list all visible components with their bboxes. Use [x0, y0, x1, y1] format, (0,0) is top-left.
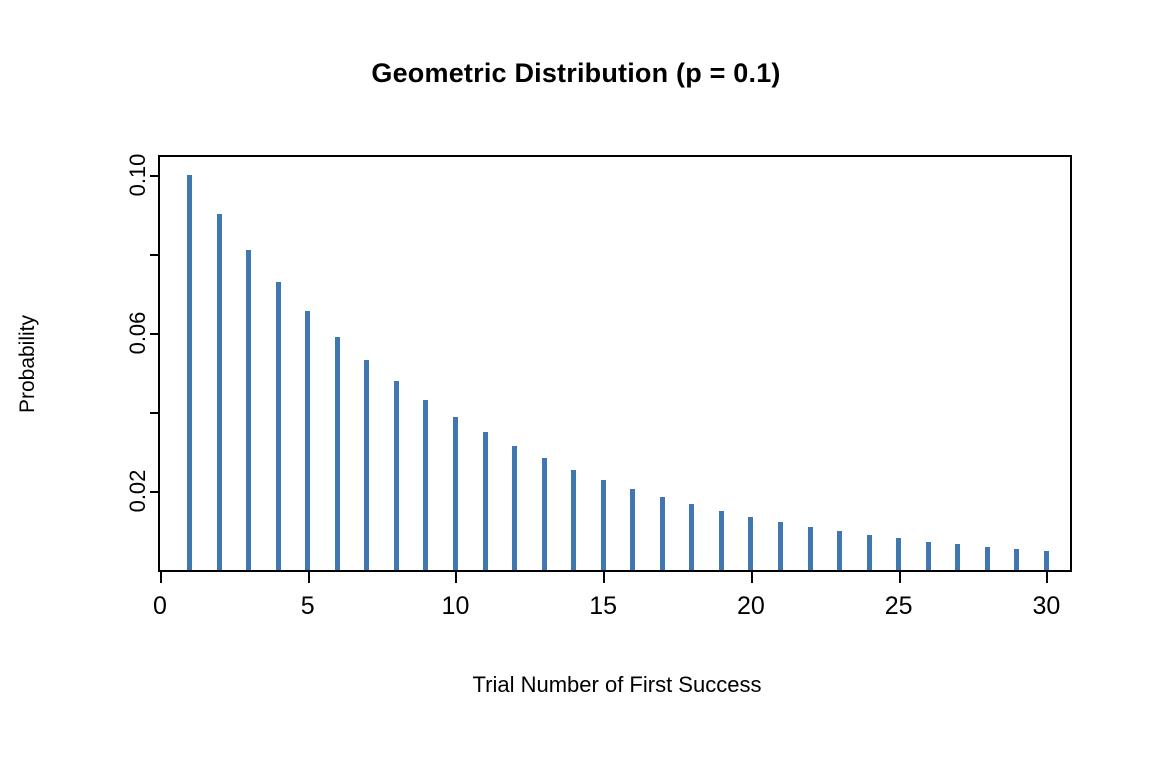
bar	[896, 538, 901, 570]
bar	[926, 542, 931, 570]
bar	[423, 400, 428, 570]
bar	[719, 511, 724, 570]
x-axis-tick-label: 25	[885, 592, 913, 621]
y-axis-tick	[150, 175, 160, 177]
bar	[217, 214, 222, 570]
bar	[246, 250, 251, 570]
bar	[660, 497, 665, 570]
y-axis-tick	[150, 491, 160, 493]
bar	[867, 535, 872, 570]
bar	[571, 470, 576, 570]
bar	[630, 489, 635, 570]
x-axis-tick	[308, 570, 310, 583]
bar	[483, 432, 488, 570]
y-axis-tick	[150, 412, 160, 414]
bar	[1044, 551, 1049, 570]
x-axis-tick-label: 10	[442, 592, 470, 621]
y-axis-tick	[150, 333, 160, 335]
bar	[394, 381, 399, 570]
chart-figure: Geometric Distribution (p = 0.1) 0.020.0…	[0, 0, 1152, 768]
bar	[512, 446, 517, 570]
x-axis-tick	[899, 570, 901, 583]
bar	[1014, 549, 1019, 570]
bar	[689, 504, 694, 570]
x-axis-tick-label: 30	[1032, 592, 1060, 621]
bar	[305, 311, 310, 570]
x-axis-tick-label: 0	[153, 592, 167, 621]
bar	[808, 527, 813, 570]
bar	[542, 458, 547, 570]
x-axis-tick-label: 15	[589, 592, 617, 621]
x-axis-tick	[455, 570, 457, 583]
x-axis-tick	[751, 570, 753, 583]
bars-layer	[160, 157, 1070, 570]
x-axis-tick	[1046, 570, 1048, 583]
bar	[453, 417, 458, 570]
bar	[748, 517, 753, 570]
x-axis-tick-label: 5	[301, 592, 315, 621]
bar	[778, 522, 783, 570]
bar	[837, 531, 842, 570]
bar	[985, 547, 990, 570]
x-axis-tick-label: 20	[737, 592, 765, 621]
bar	[601, 480, 606, 570]
x-axis-title: Trial Number of First Success	[160, 672, 1074, 698]
y-axis-title: Probability	[16, 314, 40, 412]
bar	[276, 282, 281, 570]
bar	[364, 360, 369, 570]
y-axis-tick	[150, 254, 160, 256]
plot-area: 0.020.060.10 051015202530 Probability Tr…	[158, 155, 1072, 572]
x-axis-tick	[603, 570, 605, 583]
bar	[187, 175, 192, 570]
bar	[335, 337, 340, 570]
x-axis-tick	[160, 570, 162, 583]
chart-title: Geometric Distribution (p = 0.1)	[0, 58, 1152, 89]
bar	[955, 544, 960, 570]
